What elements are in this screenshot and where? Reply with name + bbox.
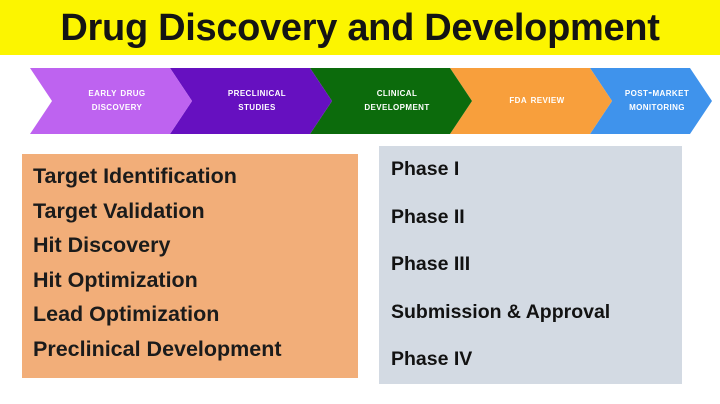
clinical-phase-item: Phase I [391, 160, 682, 180]
process-stage-label: PreclinicalStudies [208, 87, 294, 114]
process-stage-label-line1: Early Drug [88, 87, 145, 101]
process-stage-label-line1: Preclinical [228, 87, 286, 101]
process-chevron-strip: Early DrugDiscoveryPreclinicalStudiesCli… [0, 66, 720, 136]
title-banner: Drug Discovery and Development [0, 0, 720, 55]
clinical-phase-panel: Phase IPhase IIPhase IIISubmission & App… [379, 146, 682, 384]
discovery-stage-panel: Target IdentificationTarget ValidationHi… [22, 154, 358, 378]
discovery-stage-item: Preclinical Development [33, 339, 358, 361]
process-stage-label: ClinicalDevelopment [344, 87, 437, 114]
process-stage-label-line1: Post-market [625, 87, 689, 101]
clinical-phase-item: Phase III [391, 255, 682, 275]
process-stage-label-line1: FDA Review [509, 94, 564, 108]
process-stage-label-line2: Monitoring [625, 101, 689, 115]
process-stage-label-line2: Development [364, 101, 429, 115]
discovery-stage-item: Hit Optimization [33, 270, 358, 292]
process-stage-label: FDA Review [489, 94, 572, 108]
process-stage-preclinical-studies[interactable]: PreclinicalStudies [170, 68, 332, 134]
discovery-stage-item: Lead Optimization [33, 304, 358, 326]
clinical-phase-item: Phase IV [391, 350, 682, 370]
discovery-stage-item: Target Validation [33, 201, 358, 223]
process-stage-label: Early DrugDiscovery [68, 87, 153, 114]
process-stage-label-line1: Clinical [364, 87, 429, 101]
process-stage-label: Post-marketMonitoring [605, 87, 697, 114]
page-title: Drug Discovery and Development [60, 9, 659, 47]
clinical-phase-item: Submission & Approval [391, 303, 682, 323]
process-stage-early-drug-discovery[interactable]: Early DrugDiscovery [30, 68, 192, 134]
discovery-stage-item: Target Identification [33, 166, 358, 188]
clinical-phase-item: Phase II [391, 208, 682, 228]
discovery-stage-item: Hit Discovery [33, 235, 358, 257]
process-stage-clinical-development[interactable]: ClinicalDevelopment [310, 68, 472, 134]
process-stage-fda-review[interactable]: FDA Review [450, 68, 612, 134]
process-stage-label-line2: Discovery [88, 101, 145, 115]
process-stage-label-line2: Studies [228, 101, 286, 115]
